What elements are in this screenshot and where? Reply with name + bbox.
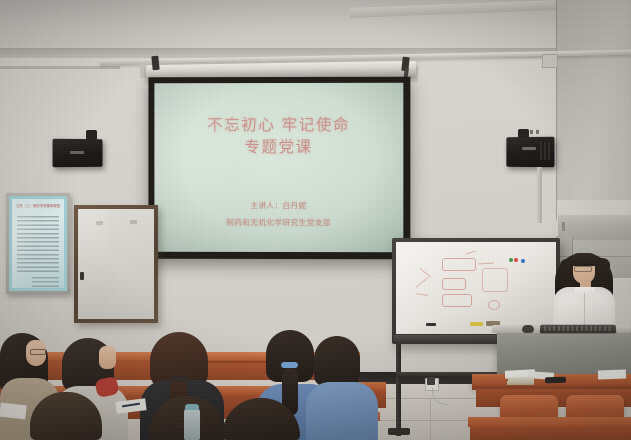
whiteboard-marking: [478, 262, 494, 264]
whiteboard-magnet-blue: [521, 259, 525, 263]
whiteboard-glare: [78, 209, 108, 319]
whiteboard-marker: [470, 322, 483, 326]
slide-title-line2: 专题党课: [154, 135, 403, 157]
whiteboard-face: [78, 209, 154, 319]
presenter-hair-front: [570, 253, 598, 266]
slide-title-line1: 不忘初心 牢记使命: [154, 113, 403, 135]
cabinet-handle: [562, 222, 565, 231]
bench-backrest: [500, 395, 558, 419]
presenter-glasses: [574, 266, 592, 272]
whiteboard-magnet-red: [514, 258, 518, 262]
bench-backrest: [566, 395, 624, 419]
speaker-support-pole: [537, 167, 542, 223]
podium-mouse: [522, 325, 534, 333]
front-bench-body: [470, 426, 631, 440]
whiteboard-stand-foot: [388, 428, 410, 435]
wall-corner-line: [556, 0, 557, 220]
screen-bracket-left: [151, 56, 159, 71]
speaker-grill-right: [540, 142, 550, 160]
whiteboard-knob: [80, 272, 84, 280]
desk-paper: [598, 370, 626, 380]
presenter-placket: [584, 293, 585, 327]
wall-right-panel: [556, 0, 631, 200]
floor-tile-line: [430, 398, 431, 440]
projection-screen: 不忘初心 牢记使命 专题党课 主讲人：白丹妮 制药和无机化学研究生党支部: [148, 77, 410, 260]
wall-mounted-whiteboard: [74, 205, 158, 323]
whiteboard-marking: [466, 250, 476, 255]
lecture-hall-photo: 不忘初心 牢记使命 专题党课 主讲人：白丹妮 制药和无机化学研究生党支部 住院（…: [0, 0, 631, 440]
whiteboard-magnet-green: [509, 258, 513, 262]
keyboard-keys: [544, 326, 612, 331]
whiteboard-clip: [130, 220, 137, 224]
audience-glasses: [30, 349, 46, 355]
slide-organization: 制药和无机化学研究生党支部: [154, 217, 403, 228]
whiteboard-stand-leg-left: [396, 336, 401, 436]
water-bottle-cap: [185, 404, 199, 410]
framed-notice-poster: 住院（工）病历书写基本规范: [6, 193, 70, 294]
audience-body-denim: [306, 382, 378, 440]
whiteboard-marking: [488, 300, 500, 310]
speaker-logo-left: [70, 151, 84, 154]
audience-paper: [0, 403, 27, 420]
mobile-whiteboard-face: [396, 242, 556, 334]
presenter: [549, 249, 621, 331]
speaker-logo-right: [522, 147, 536, 150]
audience-face: [99, 346, 116, 369]
outlet-plug: [427, 377, 435, 385]
audience-hair-tie: [168, 376, 188, 382]
presentation-slide: 不忘初心 牢记使命 专题党课 主讲人：白丹妮 制药和无机化学研究生党支部: [154, 83, 403, 252]
whiteboard-marking: [482, 268, 508, 292]
desk-book: [507, 381, 534, 385]
audience-member: [314, 336, 360, 386]
notice-glass-glare: [9, 196, 38, 291]
wall-seam: [0, 66, 120, 69]
audience-hair-tie-blue: [281, 362, 298, 368]
desk-phone: [545, 377, 566, 384]
notice-inner-panel: 住院（工）病历书写基本规范: [9, 196, 67, 291]
water-bottle: [184, 408, 200, 440]
conduit-junction-box: [542, 54, 558, 68]
mobile-whiteboard-glare: [396, 242, 460, 334]
slide-presenter-name: 主讲人：白丹妮: [154, 200, 403, 211]
